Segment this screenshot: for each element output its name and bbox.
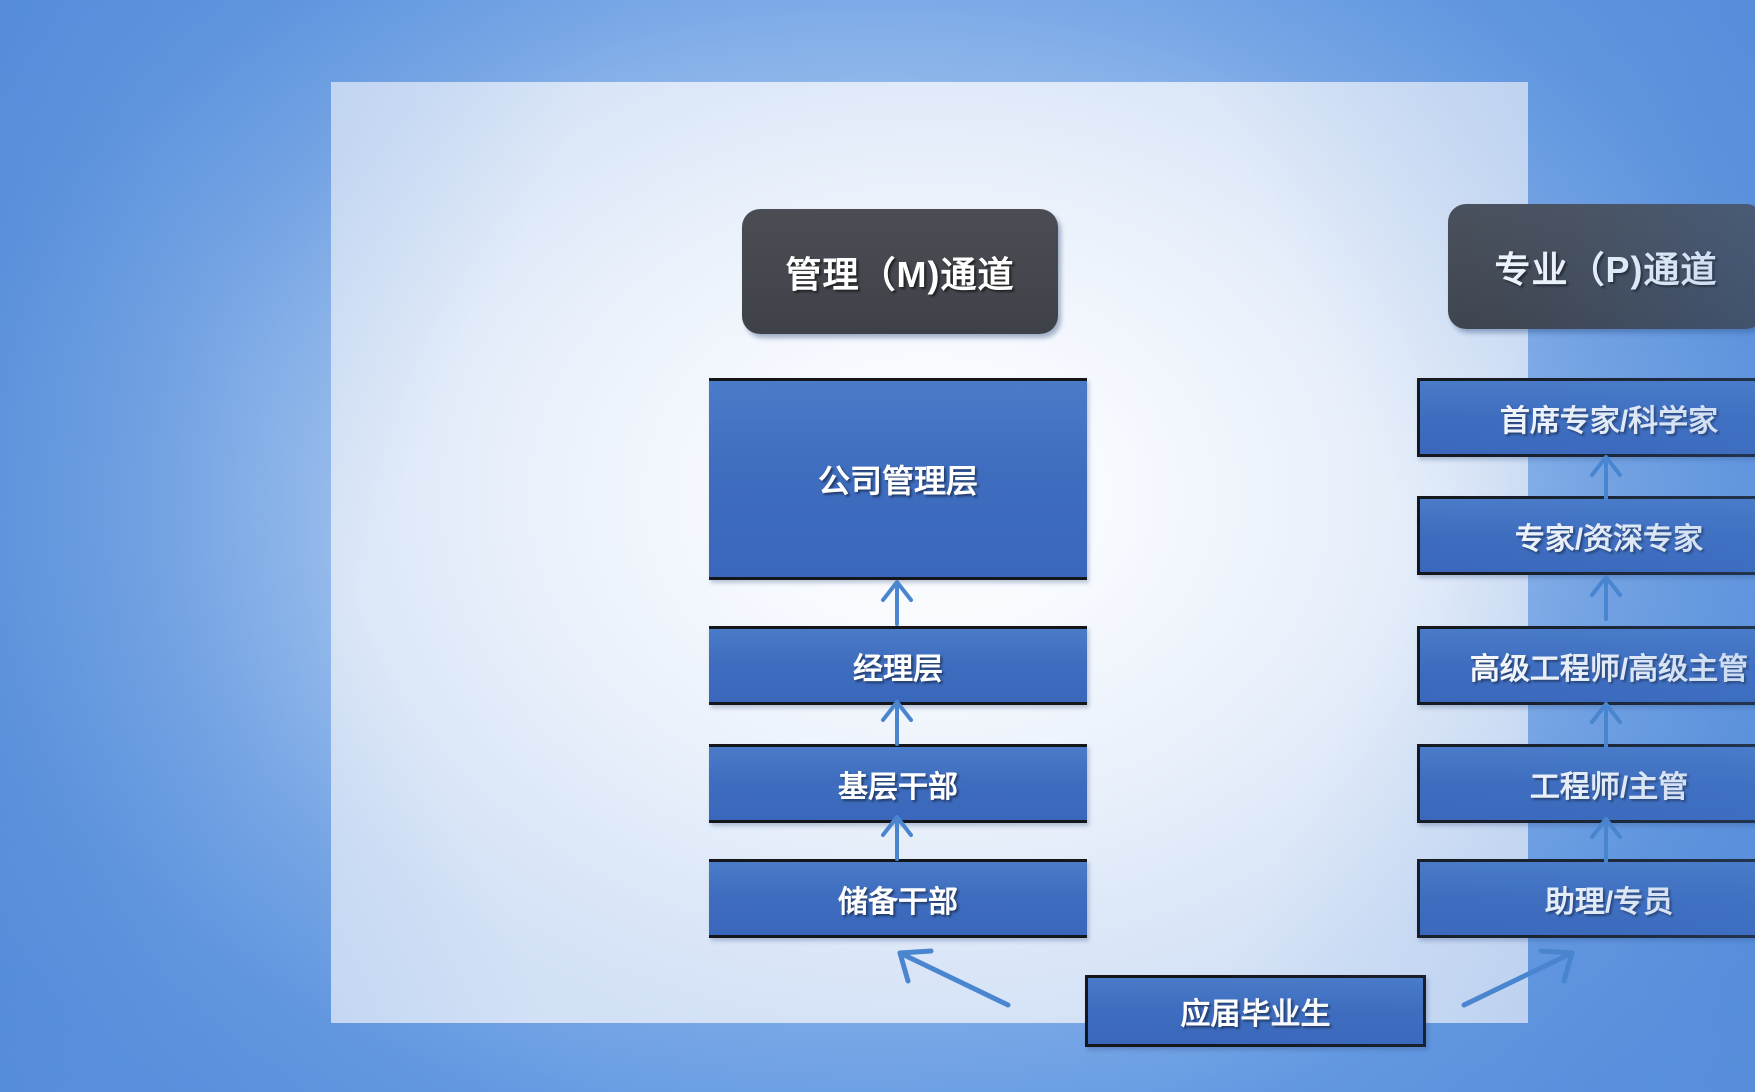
arrow-up-left-icon [886, 937, 1016, 1012]
level-box-chief-expert: 首席专家/科学家 [1417, 378, 1755, 457]
management-channel-header: 管理（M)通道 [742, 209, 1058, 334]
level-box-assistant: 助理/专员 [1417, 859, 1755, 938]
diagram-panel: 管理（M)通道 专业（P)通道 公司管理层 经理层 基层干部 储备干部 首席专家… [331, 82, 1528, 1023]
level-box-grassroots-cadre: 基层干部 [709, 744, 1087, 823]
diagram-canvas: 管理（M)通道 专业（P)通道 公司管理层 经理层 基层干部 储备干部 首席专家… [0, 0, 1755, 1092]
arrow-up-icon [1583, 573, 1629, 621]
level-box-manager: 经理层 [709, 626, 1087, 705]
level-label: 高级工程师/高级主管 [1470, 644, 1748, 688]
professional-channel-header: 专业（P)通道 [1448, 204, 1755, 329]
level-box-expert: 专家/资深专家 [1417, 496, 1755, 575]
entry-label: 应届毕业生 [1181, 989, 1331, 1033]
level-label: 公司管理层 [818, 456, 978, 502]
level-label: 工程师/主管 [1530, 762, 1688, 806]
arrow-up-icon [1583, 453, 1629, 501]
level-box-engineer: 工程师/主管 [1417, 744, 1755, 823]
arrow-up-icon [874, 578, 920, 626]
management-channel-header-label: 管理（M)通道 [786, 246, 1015, 298]
arrow-up-icon [874, 698, 920, 746]
level-label: 助理/专员 [1545, 877, 1673, 921]
level-box-company-management: 公司管理层 [709, 378, 1087, 580]
level-box-reserve-cadre: 储备干部 [709, 859, 1087, 938]
professional-channel-header-label: 专业（P)通道 [1494, 241, 1717, 293]
level-label: 储备干部 [838, 877, 958, 921]
level-label: 经理层 [853, 644, 943, 688]
arrow-up-right-icon [1456, 937, 1586, 1012]
entry-box-fresh-graduate: 应届毕业生 [1085, 975, 1426, 1047]
level-label: 专家/资深专家 [1515, 514, 1703, 558]
level-label: 首席专家/科学家 [1500, 396, 1718, 440]
level-label: 基层干部 [838, 762, 958, 806]
level-box-senior-engineer: 高级工程师/高级主管 [1417, 626, 1755, 705]
arrow-up-icon [1583, 700, 1629, 748]
